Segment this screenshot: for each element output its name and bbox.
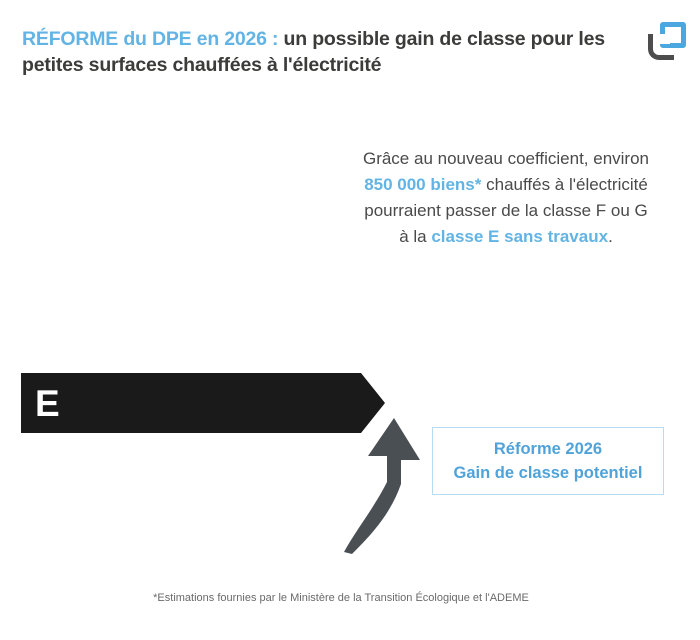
dpe-bar-b-letter: B [22, 210, 59, 243]
paragraph-highlight-class: classe E sans travaux [431, 227, 608, 246]
dpe-bar-f-letter: F [22, 451, 55, 484]
dpe-bar-c-letter: C [22, 267, 59, 300]
gain-arrow-icon [338, 404, 428, 554]
paragraph-line-2-rest: chauffés à l'électricité [481, 175, 647, 194]
dpe-bar-g-letter: G [22, 508, 61, 541]
description-paragraph: Grâce au nouveau coefficient, environ 85… [330, 146, 682, 250]
dpe-bar-a-letter: A [22, 153, 59, 186]
brand-logo-icon [648, 22, 686, 62]
dpe-bar-e-outline [21, 373, 385, 433]
paragraph-line-1: Grâce au nouveau coefficient, environ [363, 149, 649, 168]
dpe-bar-f: F [22, 444, 303, 490]
callout-line-2: Gain de classe potentiel [454, 463, 643, 484]
dpe-bar-a: A [22, 146, 134, 192]
logo-dark-bracket [648, 34, 674, 60]
dpe-bar-c: C [22, 260, 199, 306]
paragraph-line-4-prefix: à la [399, 227, 431, 246]
paragraph-highlight-count: 850 000 biens* [364, 175, 481, 194]
dpe-bar-e-highlighted: E [22, 374, 384, 432]
dpe-bar-b: B [22, 203, 168, 249]
callout-line-1: Réforme 2026 [494, 439, 602, 460]
dpe-bar-d-letter: D [22, 324, 59, 357]
dpe-bar-d: D [22, 317, 233, 363]
dpe-bar-g: G [22, 501, 338, 547]
footnote: *Estimations fournies par le Ministère d… [0, 592, 700, 604]
dpe-bar-e-letter: E [22, 385, 60, 422]
paragraph-line-4-suffix: . [608, 227, 613, 246]
paragraph-line-3: pourraient passer de la classe F ou G [364, 201, 647, 220]
callout-box: Réforme 2026 Gain de classe potentiel [432, 427, 664, 495]
